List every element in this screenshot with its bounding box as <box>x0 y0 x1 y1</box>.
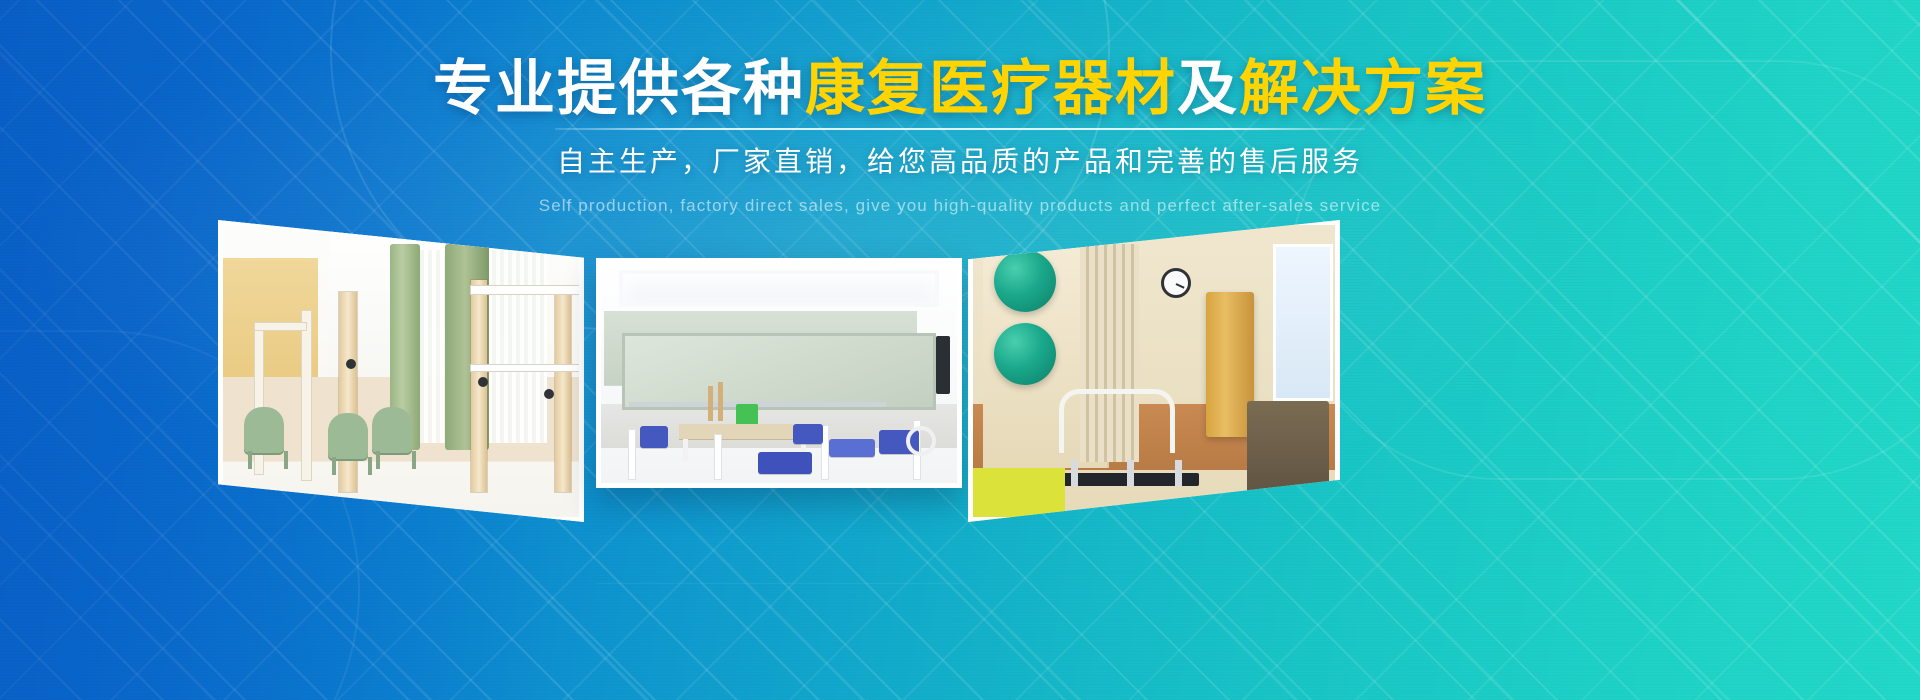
white-rail-top <box>471 286 584 294</box>
potted-plant <box>379 407 405 441</box>
wooden-stick-1 <box>708 386 713 421</box>
exercise-wheel <box>906 426 936 456</box>
equipment-knob-1 <box>346 359 356 369</box>
green-chair-2 <box>328 413 368 459</box>
wall-panel <box>983 238 1109 468</box>
white-rail-mid <box>471 365 584 371</box>
walking-frame-cart <box>1050 389 1199 492</box>
headline-text: 专业提供各种康复医疗器材及解决方案 <box>0 58 1920 120</box>
blue-seat-3 <box>829 439 875 457</box>
equipment-knob-3 <box>544 389 554 399</box>
cart-leg-2 <box>1127 460 1134 486</box>
white-frame-1 <box>629 430 635 478</box>
photo-left-image <box>218 220 584 522</box>
wooden-screen <box>1206 292 1254 437</box>
photo-center-image <box>601 263 957 483</box>
yellow-treatment-table <box>968 468 1065 522</box>
exercise-ball-1 <box>994 250 1056 312</box>
white-frame-2 <box>715 435 721 479</box>
wooden-stick-2 <box>718 382 723 422</box>
headline-segment-4: 解决方案 <box>1239 55 1487 122</box>
exercise-ball-2 <box>994 323 1056 385</box>
training-frame-beam <box>255 323 306 330</box>
green-curtain-1 <box>390 244 420 449</box>
green-chair-1 <box>244 407 284 453</box>
cart-base <box>1050 473 1199 486</box>
wooden-post-3 <box>555 286 571 491</box>
headline-segment-3: 及 <box>1177 55 1239 122</box>
headline-divider <box>555 128 1365 130</box>
photo-right-image <box>968 220 1340 522</box>
cart-handle <box>1059 389 1175 453</box>
wall-clock <box>1161 268 1191 298</box>
green-curtain-2 <box>445 244 489 449</box>
wooden-post-2 <box>471 280 487 491</box>
headline-divider-row <box>0 128 1920 130</box>
equipment-knob-2 <box>478 377 488 387</box>
photo-right[interactable] <box>968 220 1340 522</box>
wall-slats <box>1080 244 1140 461</box>
blue-seat-1 <box>640 426 668 448</box>
cart-leg-1 <box>1071 460 1078 486</box>
mirror-wall <box>622 333 935 410</box>
promo-banner: 专业提供各种康复医疗器材及解决方案 自主生产，厂家直销，给您高品质的产品和完善的… <box>0 0 1920 700</box>
wooden-post-1 <box>339 292 357 491</box>
photo-left[interactable] <box>218 220 584 522</box>
blue-seat-2 <box>793 424 823 444</box>
green-chair-3 <box>372 407 412 453</box>
subtitle-chinese: 自主生产，厂家直销，给您高品质的产品和完善的售后服务 <box>0 140 1920 180</box>
ceiling-light-panel <box>619 270 939 307</box>
headline-segment-1: 专业提供各种 <box>433 55 805 122</box>
photo-center[interactable] <box>596 258 962 488</box>
subtitle-english: Self production, factory direct sales, g… <box>0 196 1920 216</box>
blue-seat-5 <box>758 452 812 474</box>
training-frame-post-2 <box>302 311 311 480</box>
window <box>1273 244 1333 401</box>
exercise-machine <box>1247 401 1329 510</box>
sheer-curtain <box>408 250 547 443</box>
training-frame-post-1 <box>255 323 263 474</box>
therapy-table <box>679 424 793 439</box>
cart-leg-3 <box>1175 460 1182 486</box>
headline-block: 专业提供各种康复医疗器材及解决方案 <box>0 58 1920 120</box>
headline-segment-2: 康复医疗器材 <box>805 55 1177 122</box>
wall-speaker <box>936 336 950 394</box>
